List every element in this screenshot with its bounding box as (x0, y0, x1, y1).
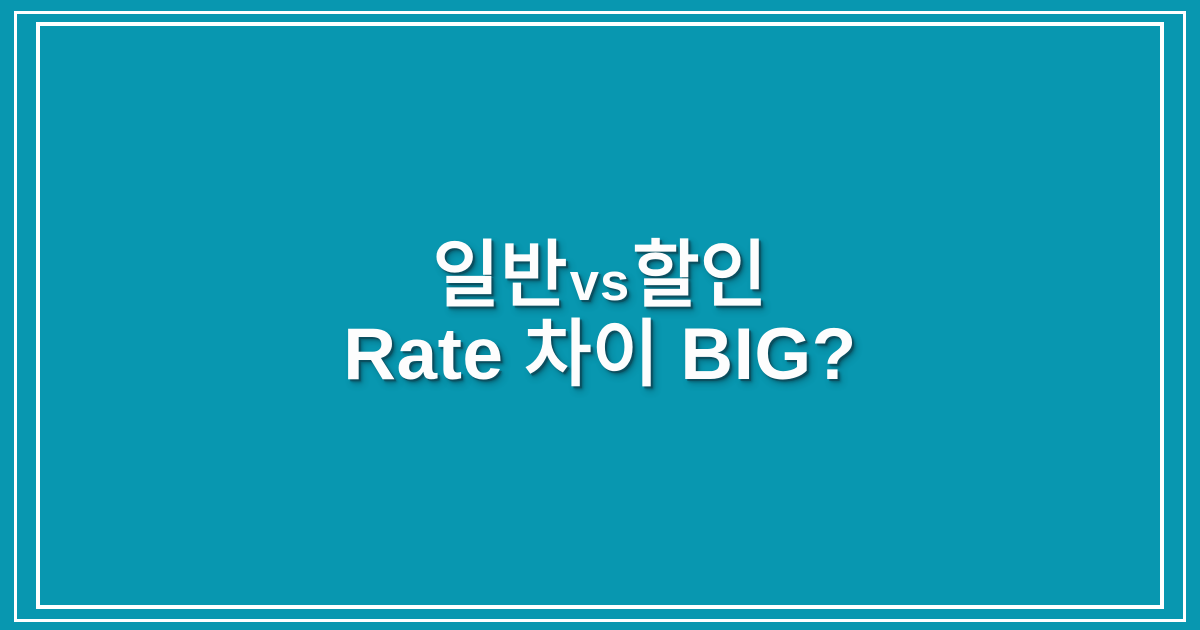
headline-text-vs: vs (568, 253, 632, 312)
headline-block: 일반vs할인 Rate 차이 BIG? (0, 0, 1200, 630)
headline-line-1: 일반vs할인 (432, 237, 767, 314)
headline-text-general: 일반 (432, 235, 567, 316)
thumbnail-canvas: 일반vs할인 Rate 차이 BIG? (0, 0, 1200, 630)
headline-line-2: Rate 차이 BIG? (343, 316, 856, 393)
headline-text-discount: 할인 (632, 235, 767, 316)
